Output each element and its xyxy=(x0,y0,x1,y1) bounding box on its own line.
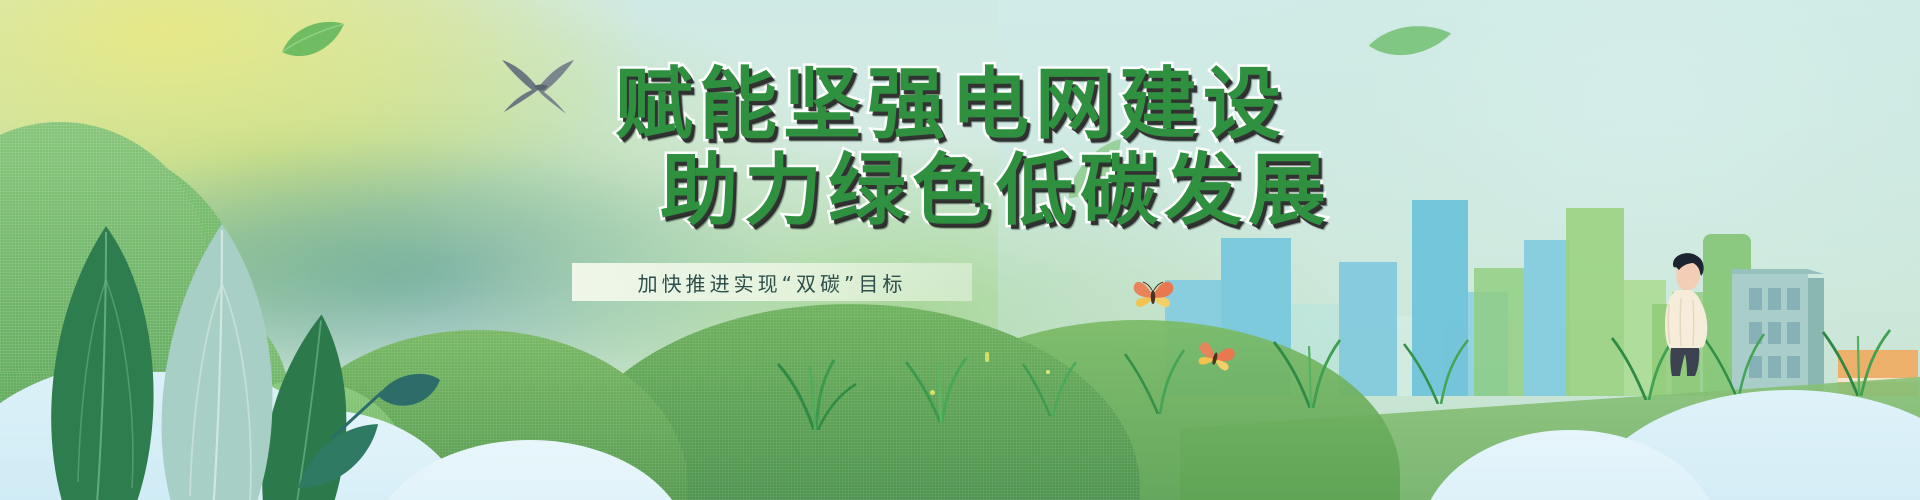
person-sweater-fold xyxy=(1693,300,1694,346)
building-window xyxy=(1787,288,1800,310)
building-teal-main-side xyxy=(1808,278,1824,400)
building-window xyxy=(1768,322,1781,344)
person-pants xyxy=(1670,348,1699,376)
walking-person xyxy=(1655,246,1725,376)
building-teal-main-roof xyxy=(1732,269,1824,274)
building-window xyxy=(1749,322,1762,344)
banner-root: 加快推进实现“双碳”目标 赋能坚强电网建设 助力绿色低碳发展 xyxy=(0,0,1920,500)
building-window xyxy=(1768,356,1781,378)
building-blue-3 xyxy=(1339,262,1397,396)
building-green-1 xyxy=(1474,268,1524,396)
subtitle-bar xyxy=(572,263,972,301)
building-window xyxy=(1787,356,1800,378)
building-green-2 xyxy=(1566,208,1624,396)
person-sweater-fold xyxy=(1680,298,1681,346)
building-blue-6 xyxy=(1524,240,1570,396)
building-window xyxy=(1749,356,1762,378)
building-window xyxy=(1749,288,1762,310)
person-sweater xyxy=(1665,290,1704,350)
building-window xyxy=(1787,322,1800,344)
building-window xyxy=(1768,288,1781,310)
building-blue-5 xyxy=(1412,200,1468,396)
